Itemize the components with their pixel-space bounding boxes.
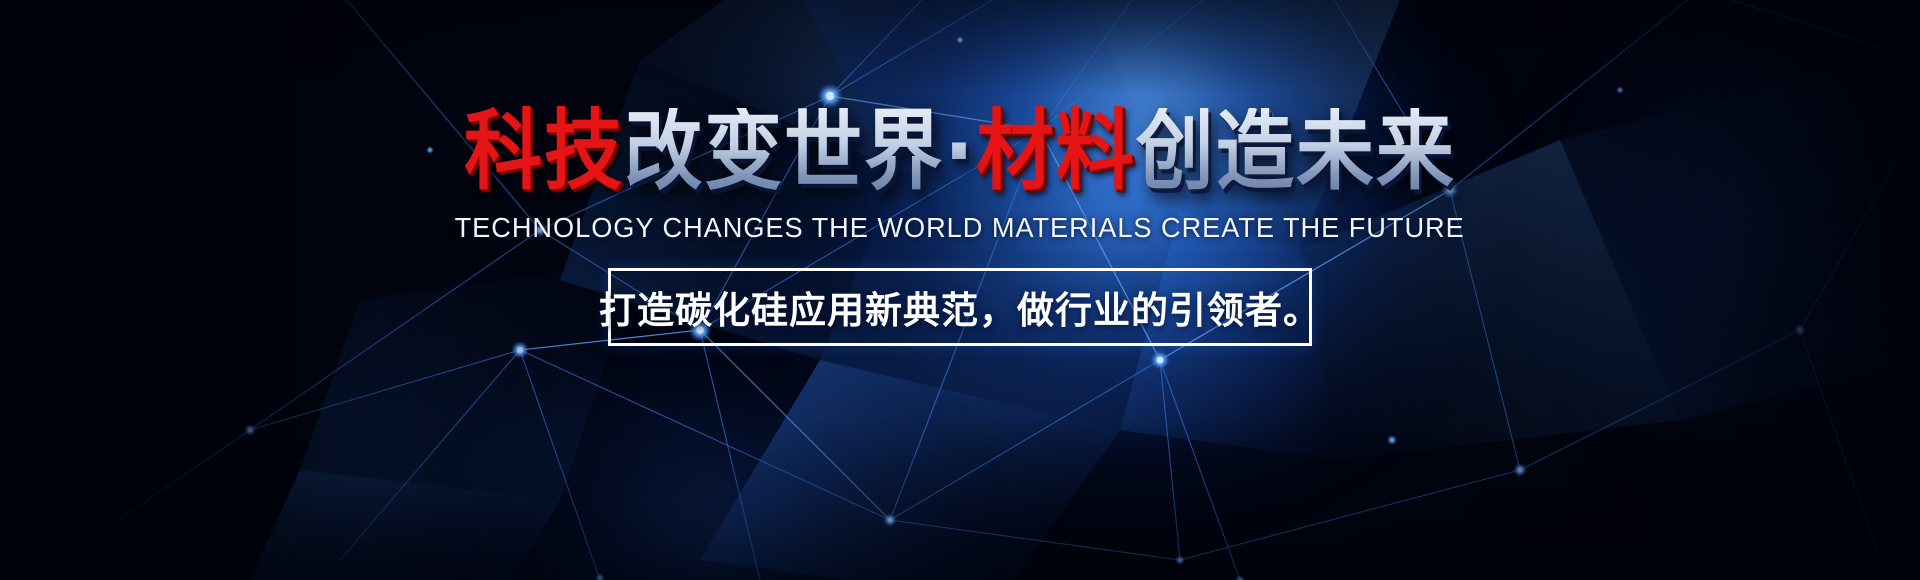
banner-content: 科技改变世界·材料创造未来 TECHNOLOGY CHANGES THE WOR…	[0, 0, 1920, 580]
slogan-box: 打造碳化硅应用新典范，做行业的引领者。	[608, 268, 1312, 346]
headline-subtitle-english: TECHNOLOGY CHANGES THE WORLD MATERIALS C…	[455, 212, 1465, 244]
hero-banner: 科技改变世界·材料创造未来 TECHNOLOGY CHANGES THE WOR…	[0, 0, 1920, 580]
headline-segment-2: 改变世界·	[624, 108, 976, 195]
headline-segment-1: 科技	[464, 108, 624, 195]
slogan-text: 打造碳化硅应用新典范，做行业的引领者。	[599, 280, 1321, 334]
headline: 科技改变世界·材料创造未来	[464, 108, 1456, 195]
headline-segment-4: 创造未来	[1136, 108, 1456, 195]
headline-segment-3: 材料	[976, 108, 1136, 195]
